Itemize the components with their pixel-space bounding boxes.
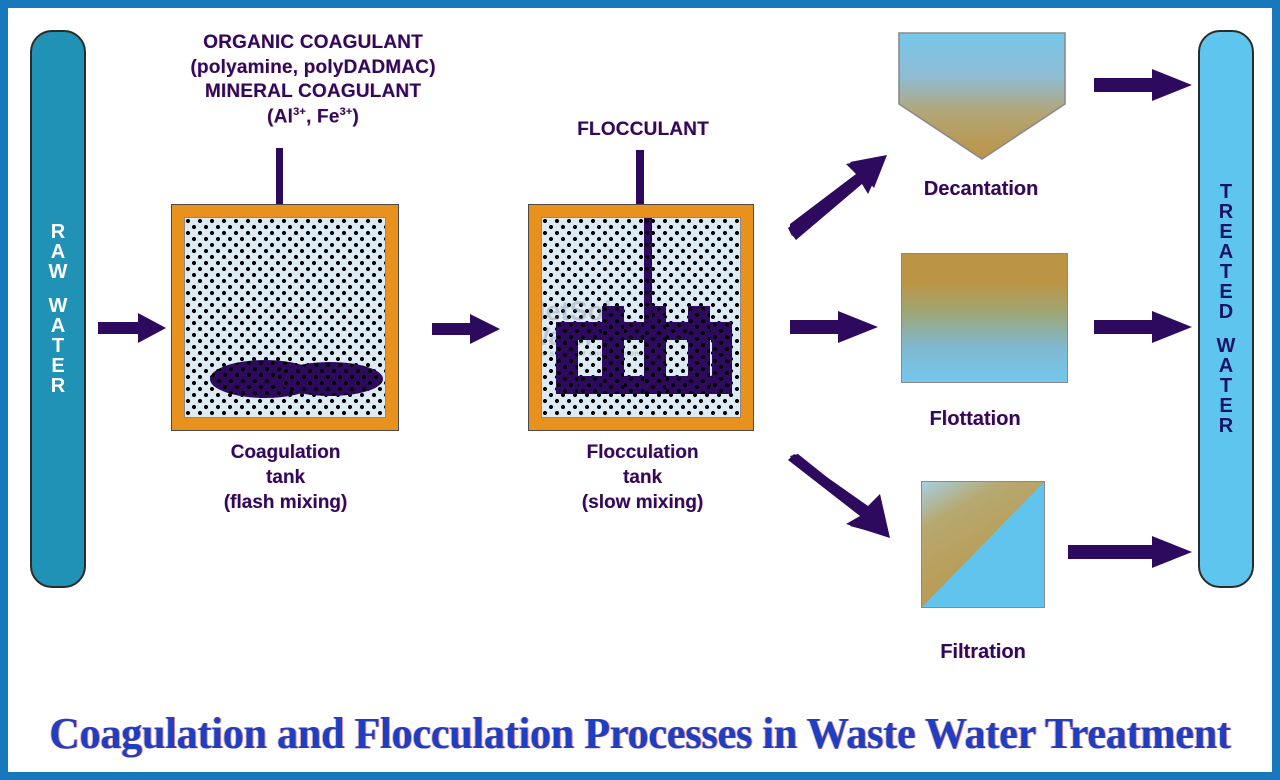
decantation-label: Decantation: [866, 176, 1096, 202]
flocculation-tank: NetSol Water Let's save our environment: [528, 204, 754, 431]
arrow-flottation-to-treated: [1094, 308, 1194, 346]
arrow-flocculation-to-filtration: [788, 454, 896, 540]
raw-water-letter: A: [51, 242, 65, 262]
raw-water-letter: R: [51, 376, 65, 396]
treated-water-letter: E: [1219, 222, 1232, 242]
arrow-coagulation-to-flocculation: [432, 310, 502, 348]
raw-water-letter: W: [49, 262, 68, 282]
coagulant-line-1: ORGANIC COAGULANT: [103, 31, 523, 56]
arrow-raw-to-coagulation: [98, 308, 168, 348]
arrow-decantation-to-treated: [1094, 66, 1194, 104]
coagulation-caption-line-2: tank: [163, 465, 408, 490]
filtration-diagonal: [922, 482, 1044, 607]
raw-water-letter: A: [51, 316, 65, 336]
paddle-blade-5: [712, 322, 732, 394]
treated-water-bar: T R E A T E D W A T E R: [1198, 30, 1254, 588]
raw-water-letter: R: [51, 222, 65, 242]
raw-water-bar: R A W W A T E R: [30, 30, 86, 588]
coagulation-caption-line-3: (flash mixing): [163, 490, 408, 515]
coagulant-charge-al: 3+: [293, 106, 306, 118]
flocculation-caption-line-3: (slow mixing): [520, 490, 765, 515]
treated-water-letter: R: [1219, 416, 1233, 436]
treated-water-letter: E: [1219, 282, 1232, 302]
paddle-shaft: [644, 218, 652, 322]
diagram-canvas: R A W W A T E R T R E A T E D W A T E R …: [0, 0, 1280, 780]
filtration-shape: [921, 481, 1045, 608]
coagulant-formula-suffix: ): [352, 106, 359, 127]
arrow-flocculation-to-decantation: [788, 154, 892, 240]
coagulant-label: ORGANIC COAGULANT (polyamine, polyDADMAC…: [103, 31, 523, 130]
treated-water-letter: E: [1219, 396, 1232, 416]
arrow-flocculation-to-flottation: [790, 308, 880, 346]
impeller-blade-right: [277, 362, 383, 396]
treated-water-letter: T: [1220, 376, 1232, 396]
treated-water-letter: W: [1217, 336, 1236, 356]
flocculation-tank-caption: Flocculation tank (slow mixing): [520, 440, 765, 515]
coagulant-formula-prefix: (Al: [267, 106, 293, 127]
arrow-filtration-to-treated: [1068, 533, 1194, 571]
paddle-blade-2: [602, 306, 624, 394]
flocculant-label: FLOCCULANT: [513, 118, 773, 143]
treated-water-letter: T: [1220, 182, 1232, 202]
treated-water-letter: A: [1219, 356, 1233, 376]
paddle-blade-4: [688, 306, 710, 394]
treated-water-letter: R: [1219, 202, 1233, 222]
page-title: Coagulation and Flocculation Processes i…: [33, 708, 1246, 759]
coagulation-tank-caption: Coagulation tank (flash mixing): [163, 440, 408, 515]
coagulant-line-4: (Al3+, Fe3+): [103, 105, 523, 130]
coagulant-line-2: (polyamine, polyDADMAC): [103, 56, 523, 81]
treated-water-letter: T: [1220, 262, 1232, 282]
coagulation-tank: [171, 204, 399, 431]
coagulation-caption-line-1: Coagulation: [163, 440, 408, 465]
flocculation-caption-line-2: tank: [520, 465, 765, 490]
treated-water-letter: D: [1219, 302, 1233, 322]
flocculation-caption-line-1: Flocculation: [520, 440, 765, 465]
flottation-label: Flottation: [860, 406, 1090, 432]
coagulant-line-3: MINERAL COAGULANT: [103, 80, 523, 105]
raw-water-letter: E: [51, 356, 64, 376]
coagulant-charge-fe: 3+: [339, 106, 352, 118]
raw-water-letter: W: [49, 296, 68, 316]
coagulation-tank-water: [184, 217, 386, 418]
flottation-shape: [901, 253, 1068, 383]
coagulant-formula-mid: , Fe: [306, 106, 340, 127]
decantation-shape: [898, 32, 1066, 160]
treated-water-letter: A: [1219, 242, 1233, 262]
raw-water-letter: T: [52, 336, 64, 356]
filtration-label: Filtration: [868, 639, 1098, 665]
flocculation-tank-water: NetSol Water Let's save our environment: [541, 217, 741, 418]
paddle-blade-1: [556, 322, 578, 394]
